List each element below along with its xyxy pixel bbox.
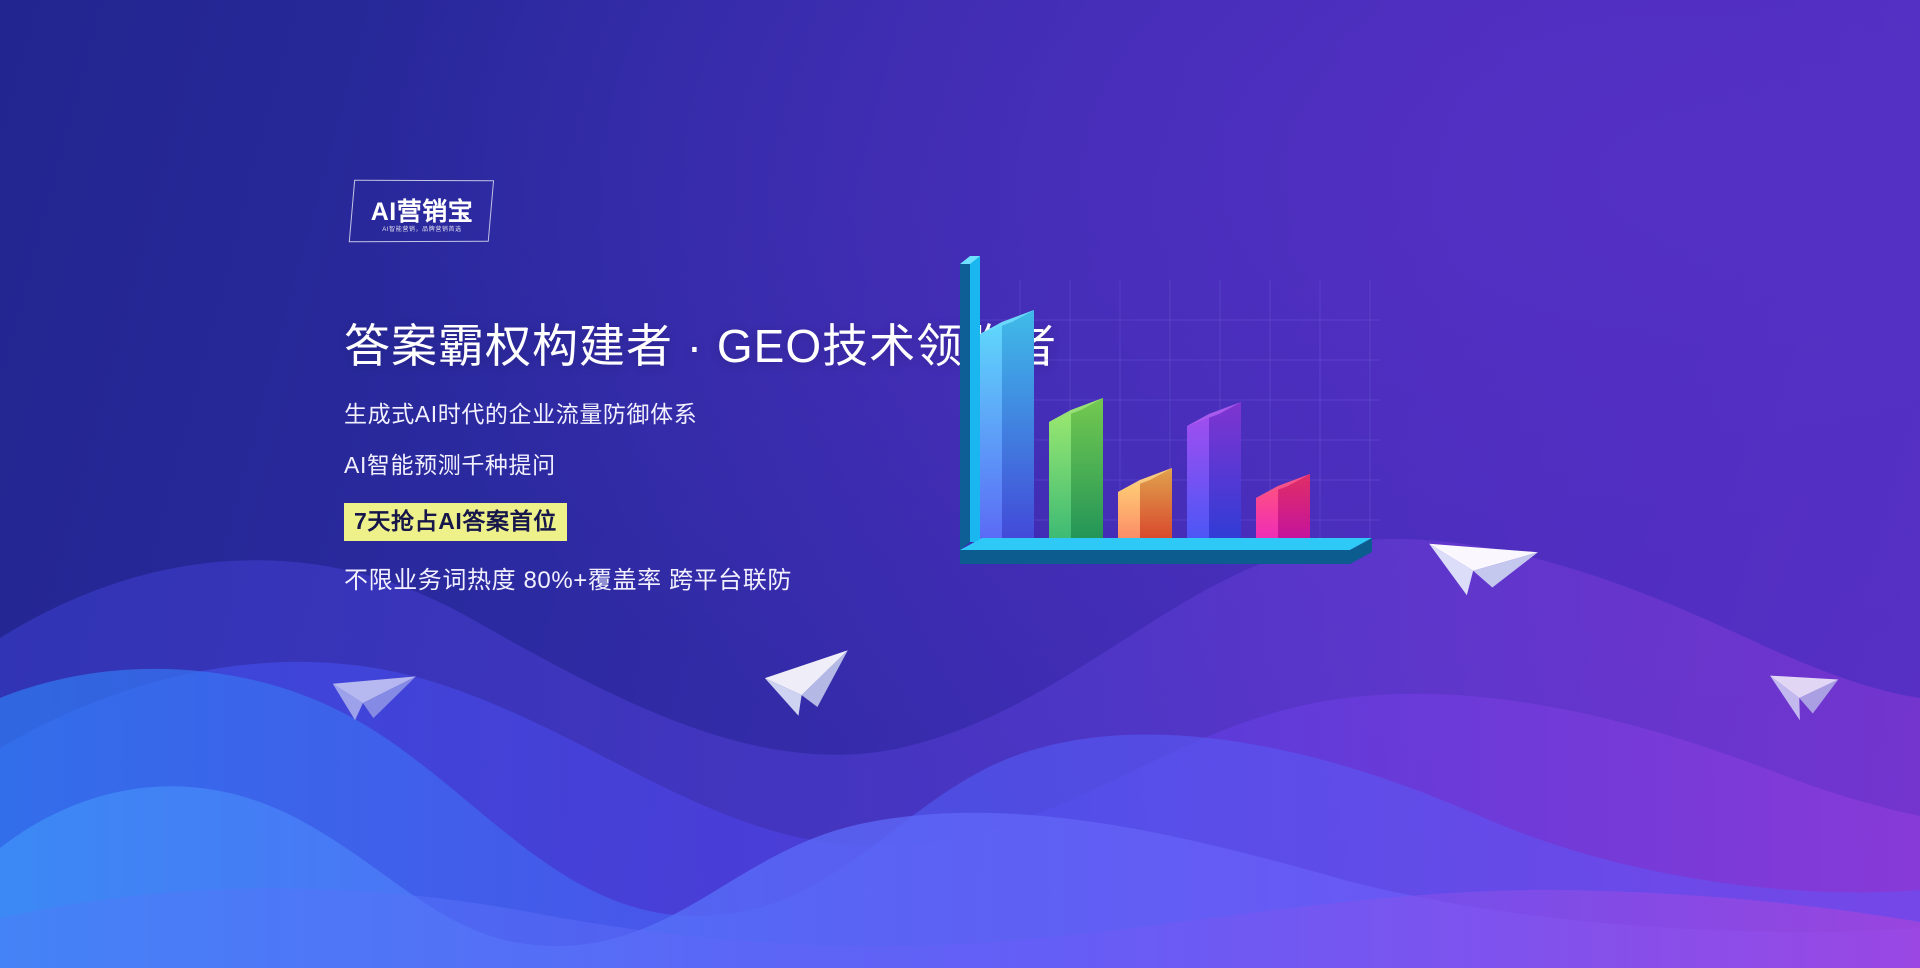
logo-wordmark: AI营销宝 [371,200,474,225]
page-title: 答案霸权构建者 · GEO技术领跑者 [344,320,1064,373]
chart-y-axis [960,256,980,550]
chart-bar-2 [1049,398,1103,554]
hero-subline-4: 不限业务词热度 80%+覆盖率 跨平台联防 [344,569,1064,593]
chart-bars [980,310,1310,554]
hero-banner: AI营销宝 AI智能营销，品牌营销首选 答案霸权构建者 · GEO技术领跑者 生… [0,0,1920,968]
bar-chart [960,280,1460,680]
hero-subline-1: 生成式AI时代的企业流量防御体系 [344,403,1064,426]
paper-plane-icon-3 [327,656,419,731]
paper-plane-icon-1 [1425,506,1543,602]
hero-subline-2: AI智能预测千种提问 [344,454,1064,477]
brand-logo[interactable]: AI营销宝 AI智能营销，品牌营销首选 [352,180,492,242]
paper-plane-icon-2 [760,642,859,724]
chart-bar-1 [980,310,1034,554]
logo-tagline: AI智能营销，品牌营销首选 [382,227,461,233]
chart-bar-4 [1187,402,1241,554]
hero-copy: 答案霸权构建者 · GEO技术领跑者 生成式AI时代的企业流量防御体系 AI智能… [344,320,1064,593]
chart-base [960,538,1372,564]
hero-highlight-badge: 7天抢占AI答案首位 [344,503,567,541]
hero-highlight-wrap: 7天抢占AI答案首位 [344,503,1064,541]
